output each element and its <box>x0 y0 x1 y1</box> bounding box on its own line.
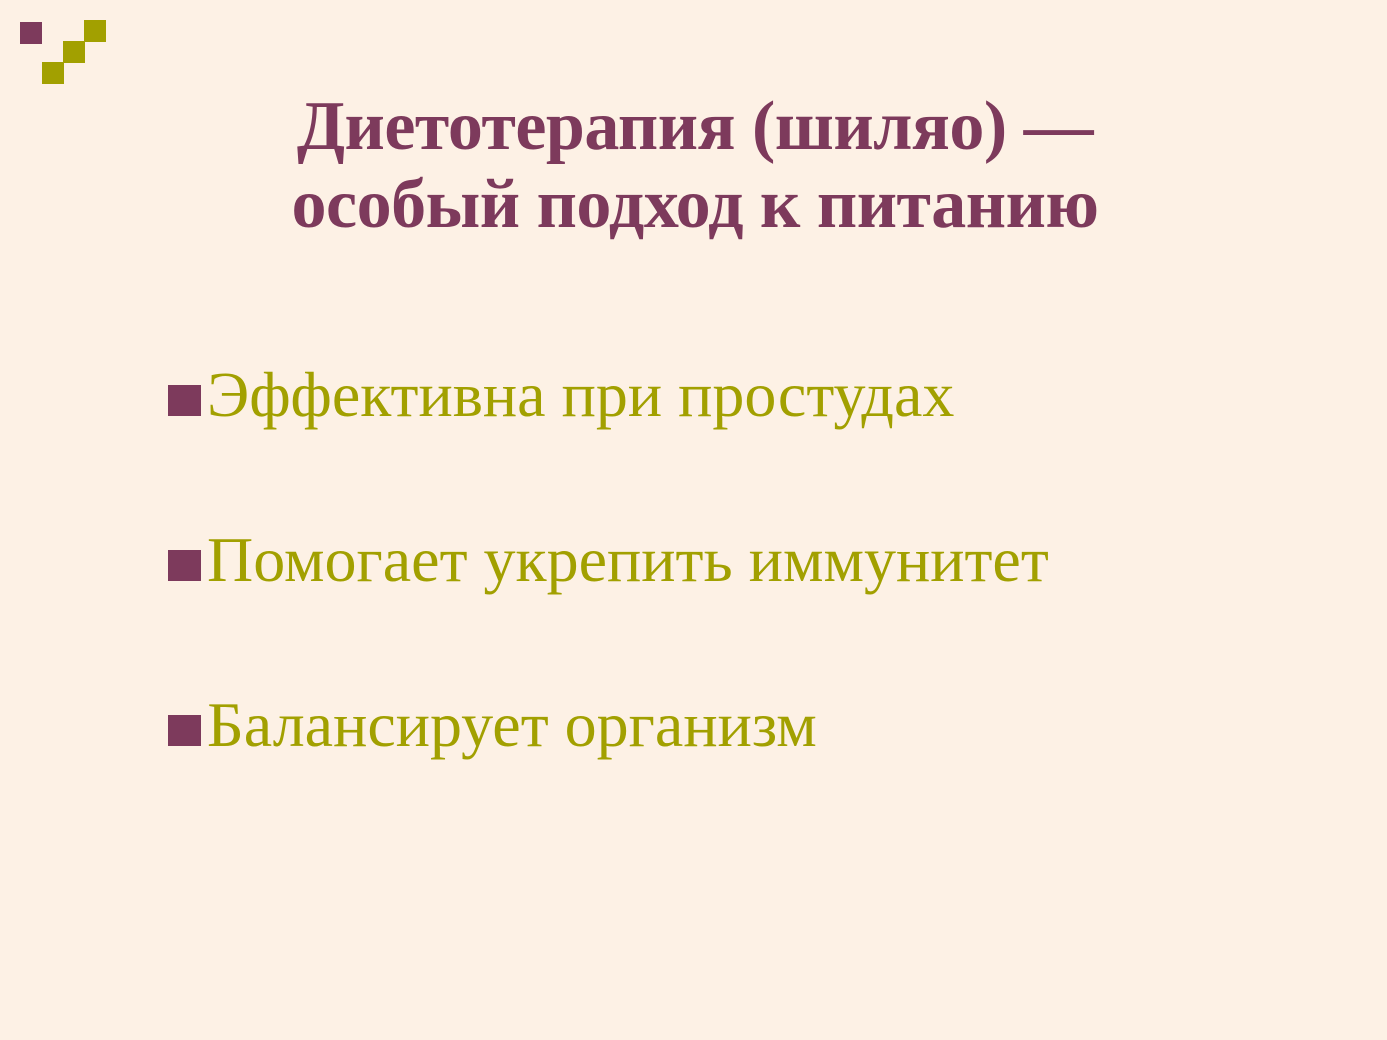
slide-title: Диетотерапия (шиляо) — особый подход к п… <box>60 88 1330 245</box>
list-item: Эффективна при простудах <box>168 360 1358 429</box>
slide-header-decoration <box>0 0 1387 95</box>
bullet-square-icon <box>168 715 201 746</box>
list-item: Помогает укрепить иммунитет <box>168 525 1358 594</box>
bullet-text: Эффективна при простудах <box>207 360 954 429</box>
list-item: Балансирует организм <box>168 690 1358 759</box>
bullet-square-icon <box>168 385 201 416</box>
bullet-text: Помогает укрепить иммунитет <box>207 525 1049 594</box>
decoration-square-olive-top <box>84 20 106 42</box>
bullet-text: Балансирует организм <box>207 690 817 759</box>
decoration-gradient-bar <box>106 20 1387 62</box>
presentation-slide: Диетотерапия (шиляо) — особый подход к п… <box>0 0 1387 1040</box>
decoration-square-olive-bottom <box>42 62 64 84</box>
slide-title-line-1: Диетотерапия (шиляо) — <box>60 88 1330 166</box>
decoration-square-purple <box>20 22 42 44</box>
decoration-square-olive-middle <box>63 41 85 63</box>
slide-bullet-list: Эффективна при простудах Помогает укрепи… <box>168 360 1358 759</box>
bullet-square-icon <box>168 550 201 581</box>
slide-title-line-2: особый подход к питанию <box>60 166 1330 244</box>
